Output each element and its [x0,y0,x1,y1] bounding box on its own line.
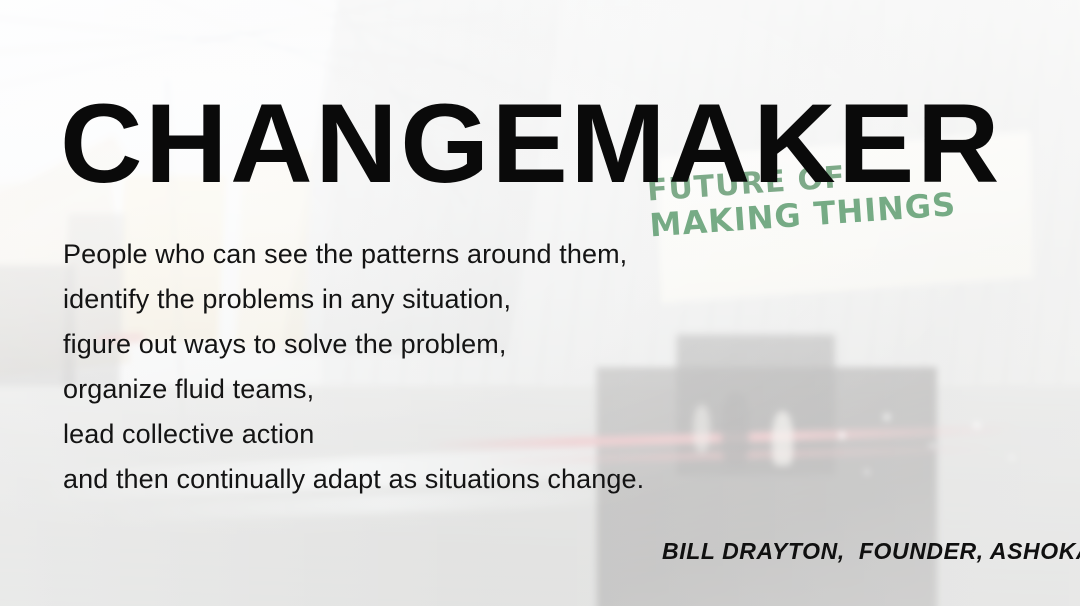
body-line: lead collective action [63,412,644,457]
body-line: and then continually adapt as situations… [63,457,644,502]
slide-content: CHANGEMAKER People who can see the patte… [0,0,1080,606]
body-line: identify the problems in any situation, [63,277,644,322]
body-copy: People who can see the patterns around t… [63,232,644,502]
body-line: People who can see the patterns around t… [63,232,644,277]
body-line: organize fluid teams, [63,367,644,412]
quote-attribution: BILL DRAYTON, FOUNDER, ASHOKA [662,538,1080,565]
body-line: figure out ways to solve the problem, [63,322,644,367]
slide-canvas: FUTURE OF MAKING THINGS CHANGEMAKER Peop… [0,0,1080,606]
page-title: CHANGEMAKER [60,88,1002,200]
